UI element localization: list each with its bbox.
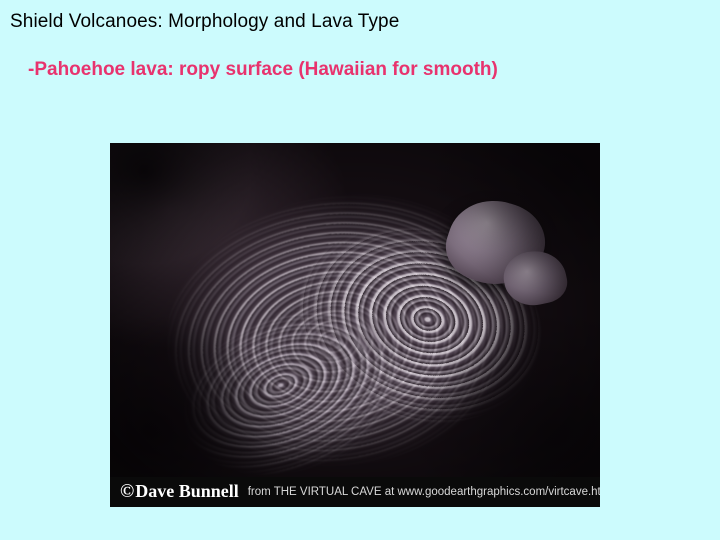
- shadow-bottom-right: [410, 309, 600, 489]
- page-title: Shield Volcanoes: Morphology and Lava Ty…: [10, 11, 399, 33]
- lava-photo: ©Dave Bunnell from THE VIRTUAL CAVE at w…: [110, 143, 600, 507]
- shadow-top-left: [110, 143, 250, 263]
- slide: Shield Volcanoes: Morphology and Lava Ty…: [0, 0, 720, 540]
- photo-source: from THE VIRTUAL CAVE at www.goodearthgr…: [248, 486, 600, 499]
- photo-caption-bar: ©Dave Bunnell from THE VIRTUAL CAVE at w…: [110, 477, 600, 507]
- photo-canvas: [110, 143, 600, 507]
- shadow-bottom-left: [110, 313, 290, 483]
- bullet-text: -Pahoehoe lava: ropy surface (Hawaiian f…: [28, 59, 498, 81]
- photo-credit-name: Dave Bunnell: [135, 481, 239, 501]
- photo-credit: ©Dave Bunnell: [120, 481, 239, 503]
- copyright-icon: ©: [120, 481, 134, 502]
- shadow-top-right: [430, 143, 600, 293]
